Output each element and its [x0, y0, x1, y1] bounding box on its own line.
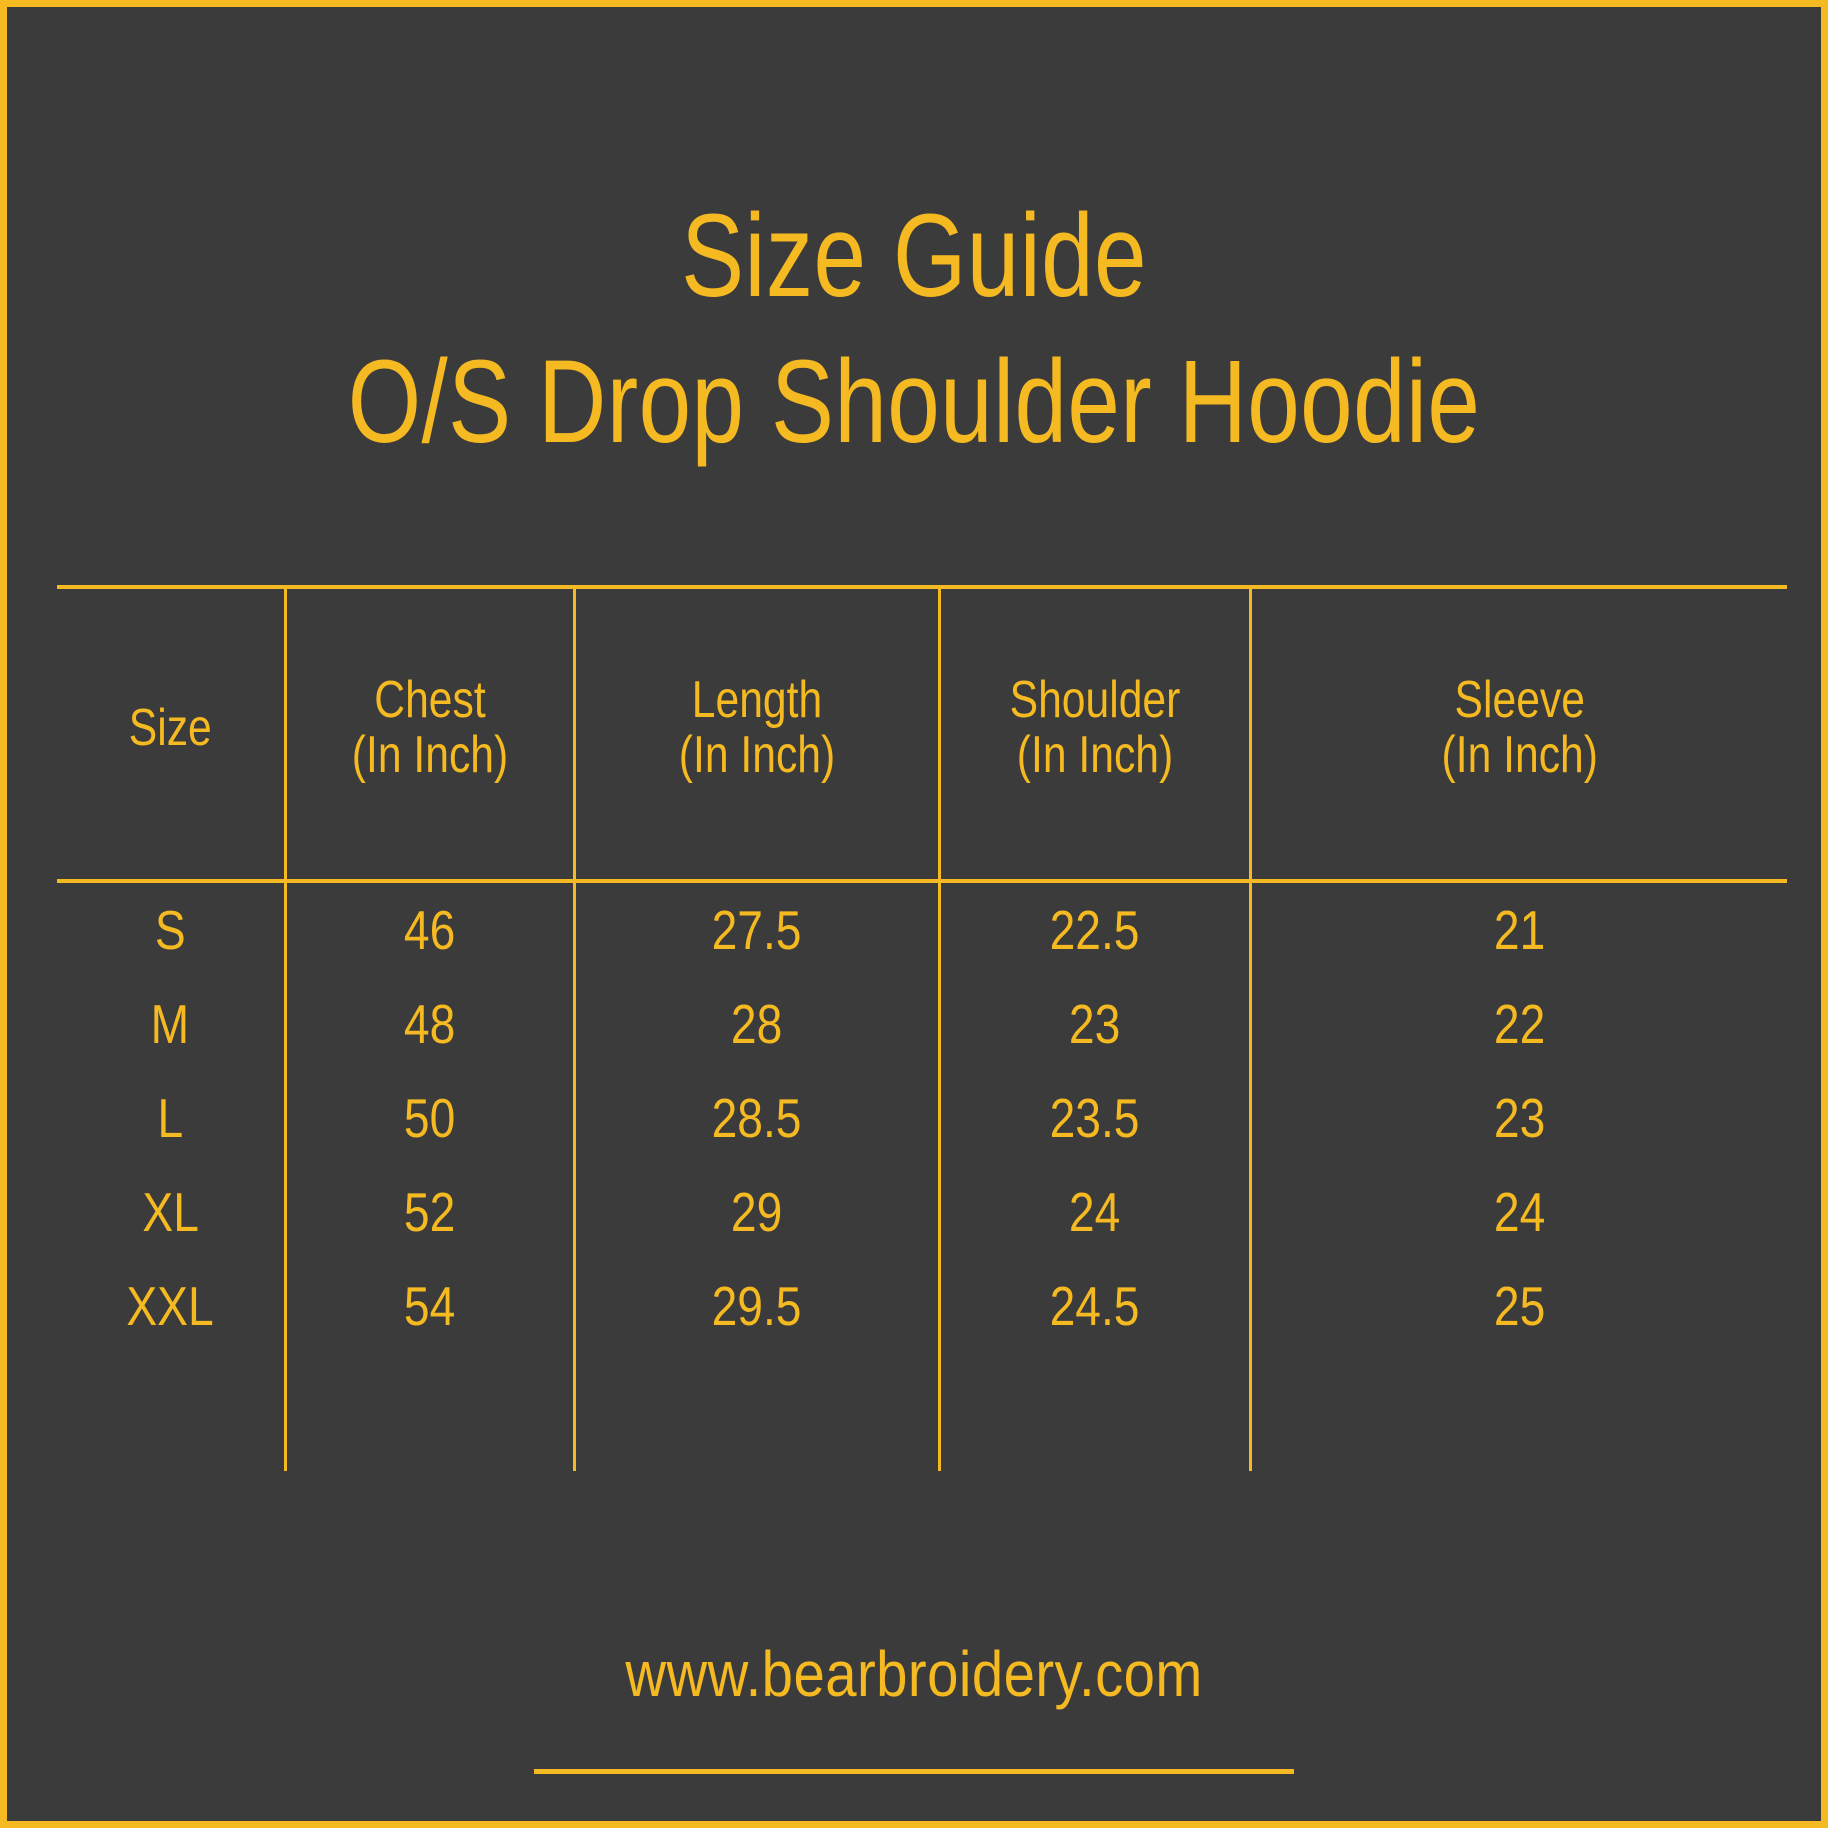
column-header-size-label: Size	[77, 698, 263, 758]
cell-size-value: L	[157, 1086, 183, 1150]
table-bottom-spacer	[57, 1353, 1787, 1471]
cell-sleeve: 25	[1250, 1259, 1787, 1353]
footer-divider	[534, 1769, 1294, 1774]
column-header-shoulder-label: Shoulder	[968, 673, 1221, 728]
cell-chest: 46	[285, 881, 574, 977]
cell-shoulder: 24.5	[939, 1259, 1250, 1353]
cell-sleeve-value: 24	[1494, 1180, 1545, 1244]
website-url[interactable]: www.bearbroidery.com	[625, 1637, 1202, 1711]
column-header-chest: Chest (In Inch)	[285, 587, 574, 881]
cell-shoulder: 24	[939, 1165, 1250, 1259]
cell-chest-value: 52	[404, 1180, 455, 1244]
spacer-cell	[285, 1353, 574, 1471]
cell-length-value: 28	[731, 992, 782, 1056]
column-header-sleeve-unit: (In Inch)	[1300, 728, 1739, 783]
size-guide-card: Size Guide O/S Drop Shoulder Hoodie Size…	[0, 0, 1828, 1828]
cell-chest-value: 54	[404, 1274, 455, 1338]
cell-length: 29	[574, 1165, 939, 1259]
cell-length-value: 29.5	[712, 1274, 802, 1338]
column-header-sleeve-label: Sleeve	[1300, 673, 1739, 728]
cell-sleeve-value: 23	[1494, 1086, 1545, 1150]
cell-chest-value: 50	[404, 1086, 455, 1150]
size-table: Size Chest (In Inch) Length (In Inch) Sh…	[57, 585, 1787, 1471]
column-header-sleeve: Sleeve (In Inch)	[1250, 587, 1787, 881]
cell-shoulder: 23	[939, 977, 1250, 1071]
table-row: L 50 28.5 23.5 23	[57, 1071, 1787, 1165]
spacer-cell	[1250, 1353, 1787, 1471]
cell-size-value: XL	[142, 1180, 199, 1244]
column-header-shoulder: Shoulder (In Inch)	[939, 587, 1250, 881]
spacer-cell	[57, 1353, 285, 1471]
footer: www.bearbroidery.com	[7, 1637, 1821, 1774]
cell-sleeve-value: 25	[1494, 1274, 1545, 1338]
cell-size: XXL	[57, 1259, 285, 1353]
cell-chest: 48	[285, 977, 574, 1071]
cell-length-value: 29	[731, 1180, 782, 1244]
cell-sleeve: 24	[1250, 1165, 1787, 1259]
title-block: Size Guide O/S Drop Shoulder Hoodie	[7, 197, 1821, 461]
cell-chest-value: 48	[404, 992, 455, 1056]
cell-size-value: M	[151, 992, 189, 1056]
cell-sleeve: 21	[1250, 881, 1787, 977]
cell-size-value: XXL	[127, 1274, 214, 1338]
spacer-cell	[939, 1353, 1250, 1471]
spacer-cell	[574, 1353, 939, 1471]
column-header-shoulder-unit: (In Inch)	[968, 728, 1221, 783]
column-header-chest-unit: (In Inch)	[312, 728, 547, 783]
cell-shoulder: 22.5	[939, 881, 1250, 977]
table-header: Size Chest (In Inch) Length (In Inch) Sh…	[57, 587, 1787, 881]
table-row: M 48 28 23 22	[57, 977, 1787, 1071]
cell-length-value: 27.5	[712, 898, 802, 962]
table-body: S 46 27.5 22.5 21 M 48 28 23 22 L 50 28.…	[57, 881, 1787, 1471]
cell-length: 28	[574, 977, 939, 1071]
cell-length: 28.5	[574, 1071, 939, 1165]
column-header-length-label: Length	[608, 673, 905, 728]
size-table-wrapper: Size Chest (In Inch) Length (In Inch) Sh…	[57, 585, 1787, 1471]
cell-shoulder: 23.5	[939, 1071, 1250, 1165]
page-title: Size Guide	[188, 197, 1639, 315]
cell-length: 27.5	[574, 881, 939, 977]
cell-length: 29.5	[574, 1259, 939, 1353]
cell-size: XL	[57, 1165, 285, 1259]
column-header-length: Length (In Inch)	[574, 587, 939, 881]
cell-chest: 52	[285, 1165, 574, 1259]
cell-size: L	[57, 1071, 285, 1165]
cell-chest-value: 46	[404, 898, 455, 962]
table-row: XL 52 29 24 24	[57, 1165, 1787, 1259]
table-row: XXL 54 29.5 24.5 25	[57, 1259, 1787, 1353]
cell-size-value: S	[155, 898, 186, 962]
page-subtitle: O/S Drop Shoulder Hoodie	[188, 343, 1639, 461]
column-header-size: Size	[57, 587, 285, 881]
cell-shoulder-value: 22.5	[1050, 898, 1140, 962]
cell-sleeve-value: 22	[1494, 992, 1545, 1056]
cell-shoulder-value: 24.5	[1050, 1274, 1140, 1338]
cell-sleeve-value: 21	[1494, 898, 1545, 962]
cell-shoulder-value: 23	[1069, 992, 1120, 1056]
cell-shoulder-value: 24	[1069, 1180, 1120, 1244]
cell-chest: 50	[285, 1071, 574, 1165]
cell-shoulder-value: 23.5	[1050, 1086, 1140, 1150]
cell-size: M	[57, 977, 285, 1071]
table-header-row: Size Chest (In Inch) Length (In Inch) Sh…	[57, 587, 1787, 881]
table-row: S 46 27.5 22.5 21	[57, 881, 1787, 977]
cell-length-value: 28.5	[712, 1086, 802, 1150]
cell-sleeve: 23	[1250, 1071, 1787, 1165]
column-header-length-unit: (In Inch)	[608, 728, 905, 783]
cell-size: S	[57, 881, 285, 977]
cell-chest: 54	[285, 1259, 574, 1353]
column-header-chest-label: Chest	[312, 673, 547, 728]
cell-sleeve: 22	[1250, 977, 1787, 1071]
